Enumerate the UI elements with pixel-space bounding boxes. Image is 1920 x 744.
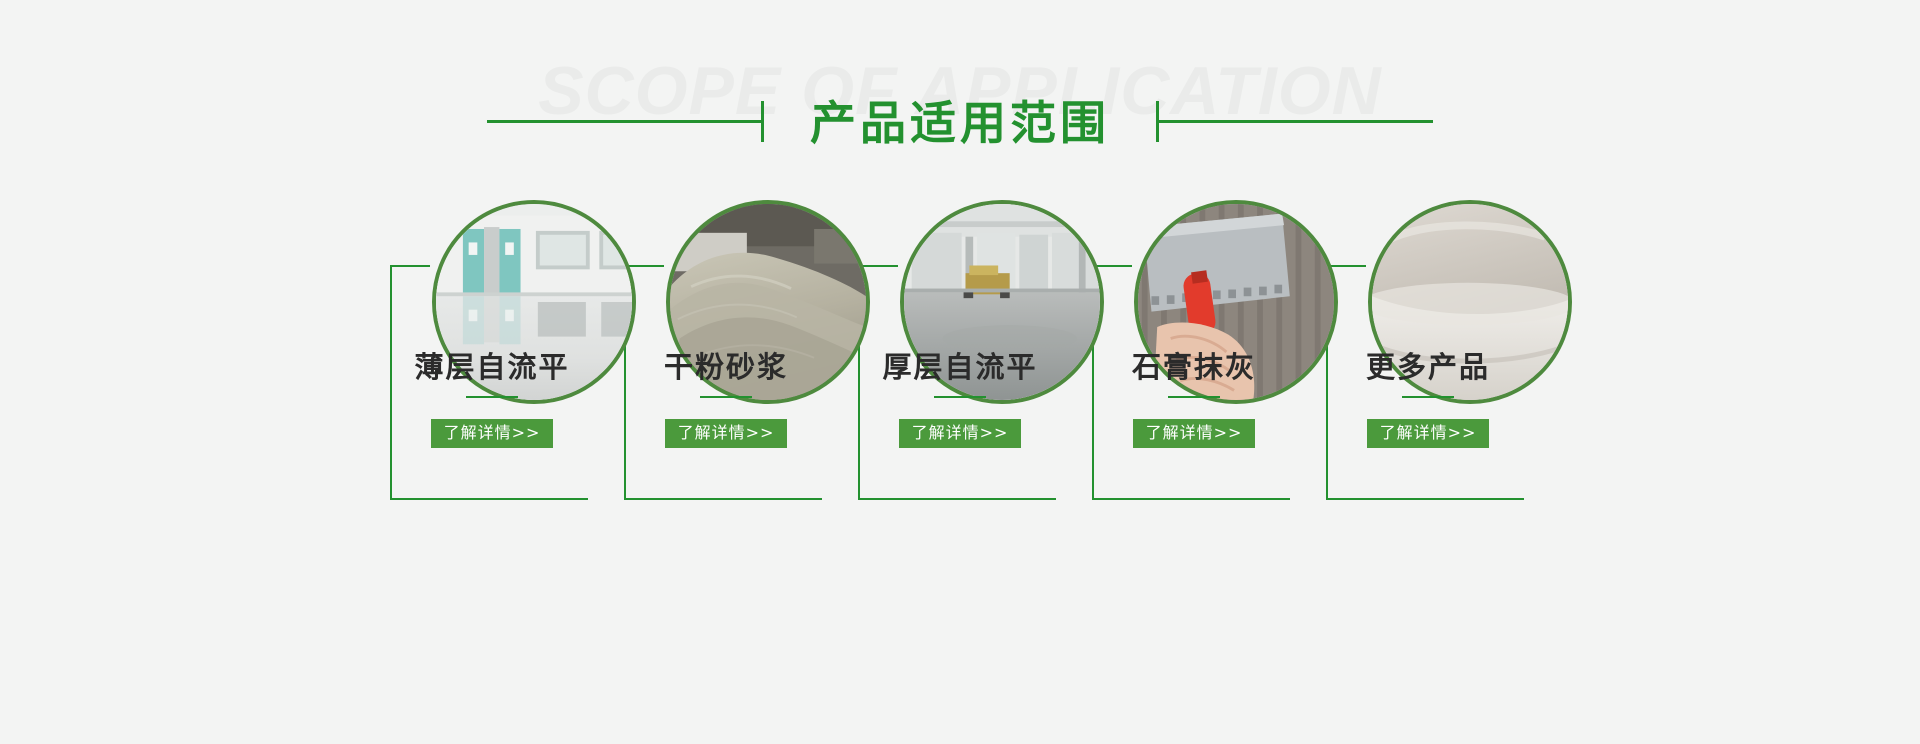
product-card[interactable]: 石膏抹灰 了解详情>>	[1092, 200, 1296, 500]
title-rule-left	[487, 120, 764, 123]
card-body: 更多产品 了解详情>>	[1326, 352, 1530, 448]
section-header: SCOPE OF APPLICATION 产品适用范围	[0, 0, 1920, 200]
learn-more-button[interactable]: 了解详情>>	[899, 419, 1022, 448]
card-title: 干粉砂浆	[624, 352, 828, 384]
product-card[interactable]: 薄层自流平 了解详情>>	[390, 200, 594, 500]
learn-more-button[interactable]: 了解详情>>	[1133, 419, 1256, 448]
product-card-list: 薄层自流平 了解详情>>	[0, 200, 1920, 500]
title-rule-right	[1156, 120, 1433, 123]
product-card[interactable]: 干粉砂浆 了解详情>>	[624, 200, 828, 500]
page-title: 产品适用范围	[764, 100, 1156, 146]
card-body: 干粉砂浆 了解详情>>	[624, 352, 828, 448]
learn-more-button[interactable]: 了解详情>>	[665, 419, 788, 448]
title-tick-right	[1156, 101, 1159, 142]
card-underline	[700, 396, 752, 398]
learn-more-button[interactable]: 了解详情>>	[1367, 419, 1490, 448]
card-title: 厚层自流平	[858, 352, 1062, 384]
card-body: 厚层自流平 了解详情>>	[858, 352, 1062, 448]
card-body: 薄层自流平 了解详情>>	[390, 352, 594, 448]
card-title: 更多产品	[1326, 352, 1530, 384]
card-title: 石膏抹灰	[1092, 352, 1296, 384]
card-underline	[1402, 396, 1454, 398]
card-underline	[466, 396, 518, 398]
card-body: 石膏抹灰 了解详情>>	[1092, 352, 1296, 448]
scope-of-application-section: SCOPE OF APPLICATION 产品适用范围	[0, 0, 1920, 744]
title-row: 产品适用范围	[0, 98, 1920, 144]
card-underline	[934, 396, 986, 398]
product-card[interactable]: 更多产品 了解详情>>	[1326, 200, 1530, 500]
learn-more-button[interactable]: 了解详情>>	[431, 419, 554, 448]
card-title: 薄层自流平	[390, 352, 594, 384]
product-card[interactable]: 厚层自流平 了解详情>>	[858, 200, 1062, 500]
card-underline	[1168, 396, 1220, 398]
